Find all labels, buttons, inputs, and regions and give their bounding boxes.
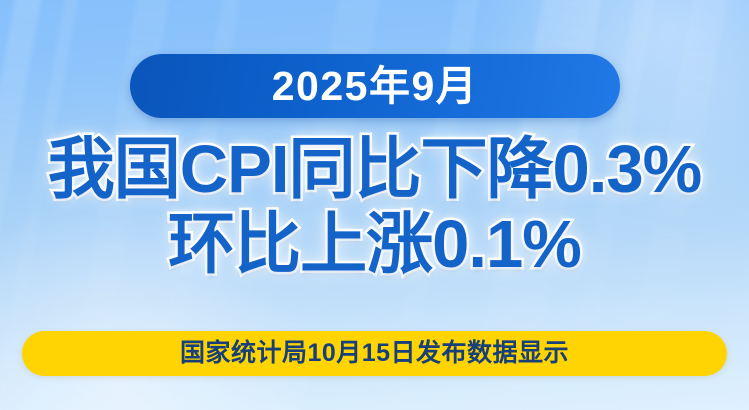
headline-line-yoy: 我国CPI同比下降0.3% <box>0 134 749 205</box>
source-badge: 国家统计局10月15日发布数据显示 <box>22 331 727 376</box>
date-badge-label: 2025年9月 <box>272 66 479 107</box>
source-badge-label: 国家统计局10月15日发布数据显示 <box>180 341 569 366</box>
headline-line-mom: 环比上涨0.1% <box>0 209 749 280</box>
date-badge: 2025年9月 <box>130 54 620 118</box>
headline-block: 我国CPI同比下降0.3% 环比上涨0.1% <box>0 134 749 280</box>
cpi-infographic-poster: 2025年9月 我国CPI同比下降0.3% 环比上涨0.1% 国家统计局10月1… <box>0 0 749 410</box>
